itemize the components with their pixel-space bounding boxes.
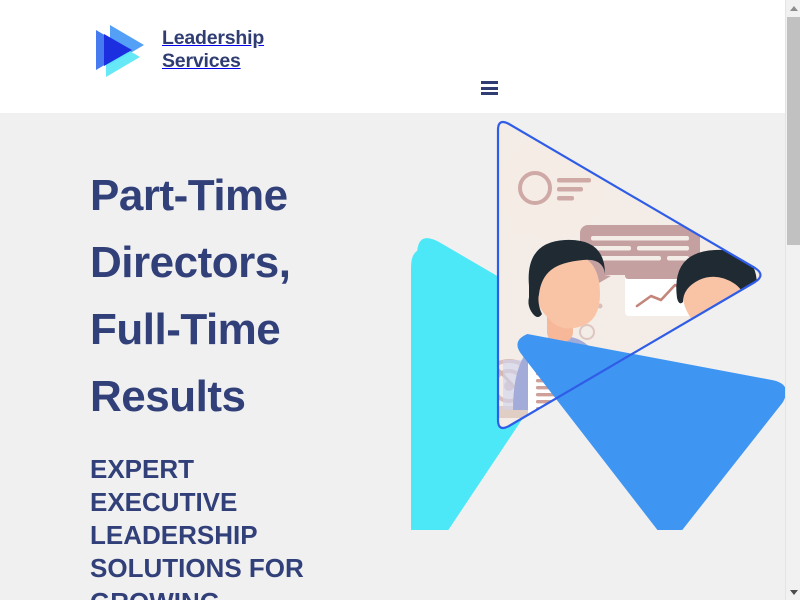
site-logo[interactable]: Leadership Services	[90, 20, 264, 80]
hero-section: Part-Time Directors, Full-Time Results E…	[0, 113, 785, 600]
play-triangle-logo-icon	[90, 20, 148, 80]
hamburger-menu-icon[interactable]	[481, 81, 498, 95]
logo-line-1: Leadership	[162, 27, 264, 50]
site-header: Leadership Services	[0, 0, 785, 113]
hamburger-bar-3	[481, 92, 498, 95]
business-meeting-illustration	[395, 110, 785, 530]
page-content: Leadership Services Part-Time Directors,…	[0, 0, 785, 600]
scroll-up-arrow-glyph	[790, 6, 798, 11]
scroll-down-arrow-icon[interactable]	[786, 584, 800, 600]
scroll-thumb[interactable]	[787, 17, 800, 245]
hero-title: Part-Time Directors, Full-Time Results	[90, 163, 390, 431]
hamburger-bar-1	[481, 81, 498, 84]
bar-chart-card	[681, 170, 763, 222]
hero-copy: Part-Time Directors, Full-Time Results E…	[90, 163, 390, 600]
scroll-down-arrow-glyph	[790, 590, 798, 595]
vertical-scrollbar[interactable]	[785, 0, 800, 600]
donut-chart-bubble	[500, 136, 604, 240]
hamburger-bar-2	[481, 87, 498, 90]
scroll-up-arrow-icon[interactable]	[786, 0, 800, 16]
logo-line-2: Services	[162, 50, 264, 73]
browser-viewport: Leadership Services Part-Time Directors,…	[0, 0, 800, 600]
logo-wordmark: Leadership Services	[162, 27, 264, 72]
hero-subtitle: EXPERT EXECUTIVE LEADERSHIP SOLUTIONS FO…	[90, 453, 340, 600]
person-right-neck	[695, 316, 721, 350]
